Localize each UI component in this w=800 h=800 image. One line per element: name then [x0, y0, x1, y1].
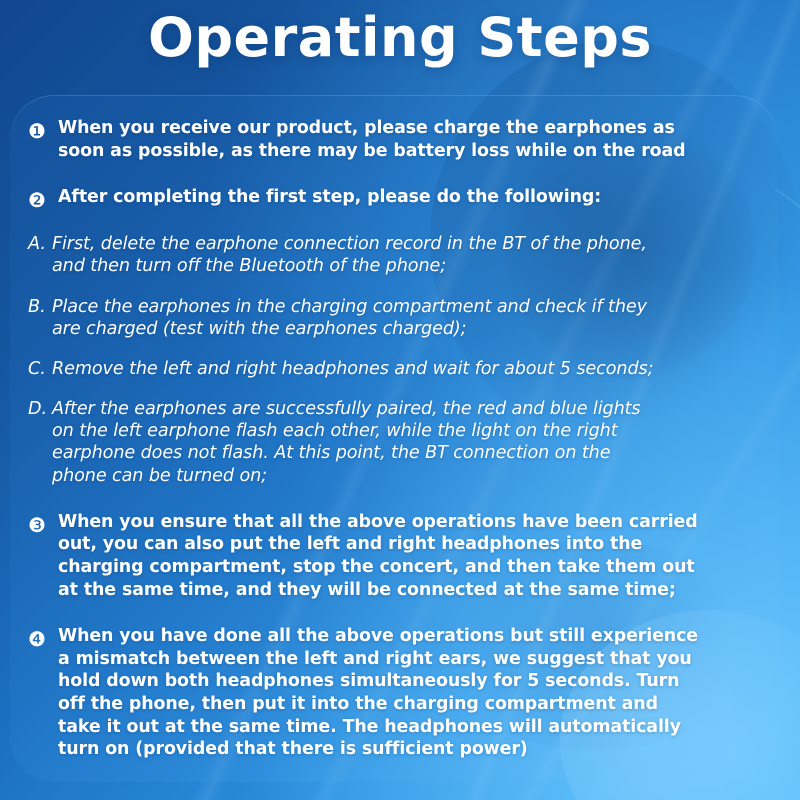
sub-item-b-text: Place the earphones in the charging comp… — [52, 296, 762, 340]
circled-number-3-icon: ❸ — [28, 511, 58, 538]
sub-item-a-text: First, delete the earphone connection re… — [52, 233, 762, 277]
circled-number-1-icon: ❶ — [28, 117, 58, 144]
sub-item-a: A. First, delete the earphone connection… — [28, 233, 762, 277]
spacer-after-sub-b — [28, 344, 762, 358]
spacer-after-sub-d — [28, 491, 762, 511]
content-panel-body: ❶ When you receive our product, please c… — [10, 95, 778, 782]
sub-item-c-text: Remove the left and right headphones and… — [52, 358, 762, 380]
content-panel: ❶ When you receive our product, please c… — [10, 95, 778, 782]
sub-item-c: C. Remove the left and right headphones … — [28, 358, 762, 380]
step-item-3: ❸ When you ensure that all the above ope… — [28, 511, 762, 602]
sub-item-a-marker: A. — [28, 233, 52, 255]
step-item-4: ❹ When you have done all the above opera… — [28, 625, 762, 761]
sub-item-d-marker: D. — [28, 398, 52, 420]
step-4-text: When you have done all the above operati… — [58, 625, 762, 761]
spacer-after-sub-c — [28, 384, 762, 398]
spacer-after-sub-a — [28, 282, 762, 296]
closing-message: Thank you for your use We wish you have … — [58, 777, 762, 782]
sub-item-c-marker: C. — [28, 358, 52, 380]
step-item-2: ❷ After completing the first step, pleas… — [28, 186, 762, 213]
closing-line-1: Thank you for your use — [58, 777, 762, 782]
step-item-1: ❶ When you receive our product, please c… — [28, 117, 762, 162]
poster-root: Operating Steps ❶ When you receive our p… — [0, 0, 800, 800]
page-title: Operating Steps — [0, 8, 800, 68]
spacer-after-step-2 — [28, 219, 762, 233]
step-3-text: When you ensure that all the above opera… — [58, 511, 762, 602]
sub-item-b: B. Place the earphones in the charging c… — [28, 296, 762, 340]
step-1-text: When you receive our product, please cha… — [58, 117, 762, 162]
sub-item-d: D. After the earphones are successfully … — [28, 398, 762, 487]
spacer-after-step-3 — [28, 607, 762, 625]
spacer-after-step-1 — [28, 168, 762, 186]
sub-item-d-text: After the earphones are successfully pai… — [52, 398, 762, 487]
step-2-text: After completing the first step, please … — [58, 186, 762, 209]
circled-number-2-icon: ❷ — [28, 186, 58, 213]
circled-number-4-icon: ❹ — [28, 625, 58, 652]
sub-item-b-marker: B. — [28, 296, 52, 318]
